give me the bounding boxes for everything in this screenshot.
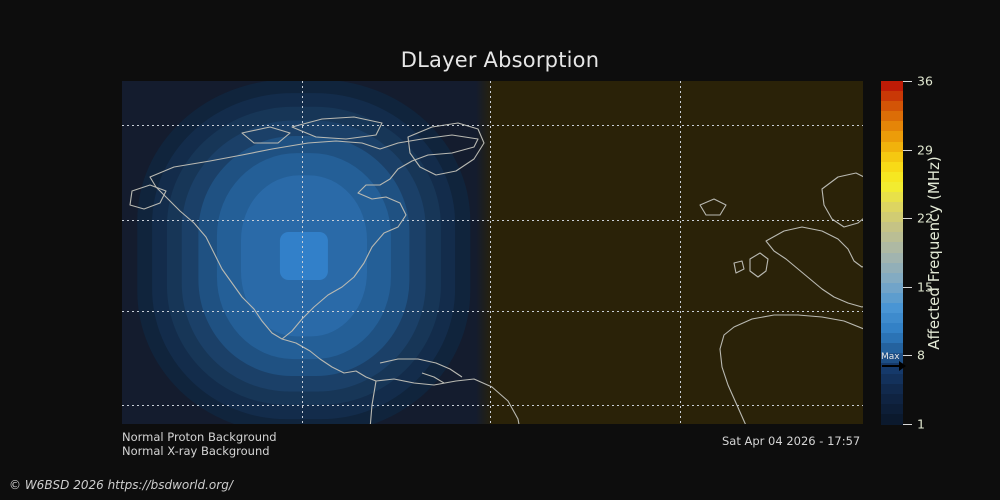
gridline-lat-60n: [122, 125, 863, 126]
colorbar-gradient: [881, 81, 903, 424]
max-marker-label: Max: [881, 352, 900, 362]
colorbar-tick: [903, 424, 912, 425]
colorbar[interactable]: [881, 81, 903, 424]
gridline-lat-20n: [122, 220, 863, 221]
map-inner: [122, 81, 863, 424]
gridline-lon-0: [490, 81, 491, 424]
max-arrow-head-icon: [899, 361, 906, 371]
timestamp-text: Sat Apr 04 2026 - 17:57: [722, 434, 860, 448]
page-title: DLayer Absorption: [0, 48, 1000, 72]
proton-status-text: Normal Proton Background: [122, 430, 277, 444]
xray-status-text: Normal X-ray Background: [122, 444, 270, 458]
colorbar-axis-label: Affected Frequency (MHz): [922, 81, 946, 424]
colorbar-axis-label-text: Affected Frequency (MHz): [925, 156, 943, 350]
chart-root: DLayer Absorption: [0, 0, 1000, 500]
gridline-lat-60s: [122, 405, 863, 406]
world-map-panel[interactable]: [122, 81, 863, 424]
colorbar-tick: [903, 287, 912, 288]
colorbar-tick: [903, 150, 912, 151]
gridline-lon-90w: [302, 81, 303, 424]
copyright-text[interactable]: © W6BSD 2026 https://bsdworld.org/: [9, 478, 233, 492]
colorbar-tick: [903, 218, 912, 219]
coastline-layer: [122, 81, 863, 424]
colorbar-tick: [903, 81, 912, 82]
colorbar-max-marker: Max: [881, 353, 911, 371]
gridline-lon-90e: [680, 81, 681, 424]
colorbar-segment: [881, 414, 903, 425]
gridline-lat-20s: [122, 311, 863, 312]
